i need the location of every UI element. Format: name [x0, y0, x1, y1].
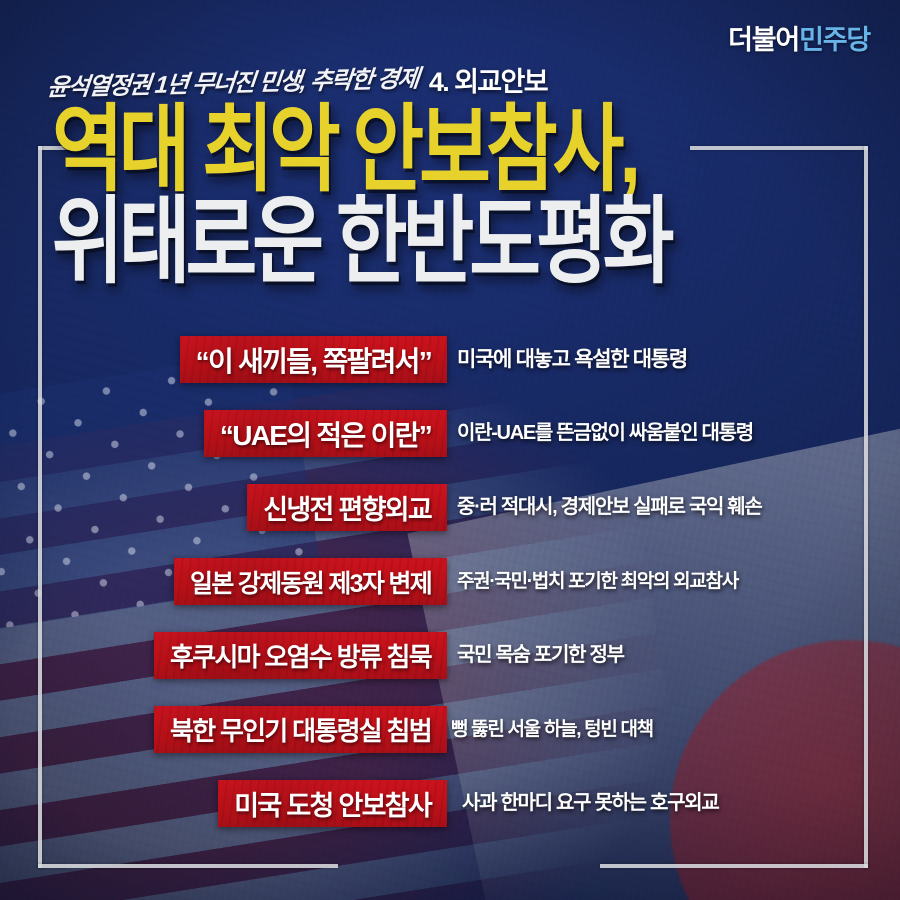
list-item: “UAE의 적은 이란” 이란-UAE를 뜬금없이 싸움붙인 대통령 [0, 410, 900, 484]
issue-description: 국민 목숨 포기한 정부 [457, 639, 624, 672]
party-logo: 더불어민주당 [728, 18, 870, 57]
issue-tag-label: “UAE의 적은 이란” [220, 414, 431, 454]
issue-description: 이란-UAE를 뜬금없이 싸움붙인 대통령 [457, 417, 753, 450]
issue-tag-badge: 미국 도청 안보참사 [218, 780, 447, 827]
headline-line-1: 역대 최악 안보참사, [52, 104, 872, 195]
kicker-chapter-text: 4. 외교안보 [429, 60, 547, 99]
headline-line-2: 위태로운 한반도평화 [52, 196, 872, 287]
list-item: 일본 강제동원 제3자 변제 주권·국민·법치 포기한 최악의 외교참사 [0, 558, 900, 632]
headline-block: 역대 최악 안보참사, 위태로운 한반도평화 [52, 104, 872, 271]
issue-description: 중·러 적대시, 경제안보 실패로 국익 훼손 [457, 491, 762, 524]
issue-tag-badge: 일본 강제동원 제3자 변제 [174, 558, 447, 605]
party-logo-suffix: 민주당 [799, 25, 870, 55]
issue-tag-badge: 북한 무인기 대통령실 침범 [154, 706, 447, 753]
poster-card: 더불어민주당 윤석열정권 1년 무너진 민생, 추락한 경제 4. 외교안보 역… [0, 0, 900, 900]
list-item: 북한 무인기 대통령실 침범 뻥 뚫린 서울 하늘, 텅빈 대책 [0, 706, 900, 780]
list-item: 미국 도청 안보참사 사과 한마디 요구 못하는 호구외교 [0, 780, 900, 854]
issue-tag-label: 일본 강제동원 제3자 변제 [190, 564, 431, 600]
issue-tag-label: 신냉전 편향외교 [263, 488, 431, 527]
issue-description: 미국에 대놓고 욕설한 대통령 [457, 343, 687, 376]
list-item: “이 새끼들, 쪽팔려서” 미국에 대놓고 욕설한 대통령 [0, 336, 900, 410]
issue-description: 사과 한마디 요구 못하는 호구외교 [462, 787, 718, 820]
issue-tag-label: 후쿠시마 오염수 방류 침묵 [170, 637, 431, 674]
kicker-line: 윤석열정권 1년 무너진 민생, 추락한 경제 4. 외교안보 [48, 60, 547, 99]
list-item: 신냉전 편향외교 중·러 적대시, 경제안보 실패로 국익 훼손 [0, 484, 900, 558]
issue-tag-label: 미국 도청 안보참사 [234, 784, 431, 823]
issue-tag-label: 북한 무인기 대통령실 침범 [170, 711, 431, 748]
issue-tag-badge: 후쿠시마 오염수 방류 침묵 [154, 632, 447, 679]
issue-tag-label: “이 새끼들, 쪽팔려서” [196, 340, 431, 380]
party-logo-prefix: 더불어 [728, 25, 799, 55]
issue-description: 주권·국민·법치 포기한 최악의 외교참사 [457, 565, 738, 598]
issue-list: “이 새끼들, 쪽팔려서” 미국에 대놓고 욕설한 대통령 “UAE의 적은 이… [0, 336, 900, 854]
issue-tag-badge: “UAE의 적은 이란” [204, 410, 447, 457]
issue-description: 뻥 뚫린 서울 하늘, 텅빈 대책 [451, 713, 653, 746]
issue-tag-badge: “이 새끼들, 쪽팔려서” [180, 336, 447, 383]
issue-tag-badge: 신냉전 편향외교 [247, 484, 447, 531]
list-item: 후쿠시마 오염수 방류 침묵 국민 목숨 포기한 정부 [0, 632, 900, 706]
